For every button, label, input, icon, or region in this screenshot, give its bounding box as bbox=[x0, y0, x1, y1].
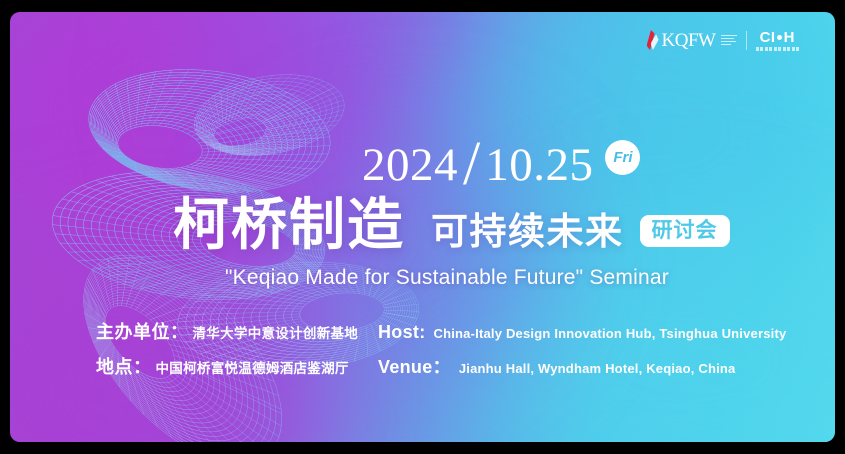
host-english: Host: China-Italy Design Innovation Hub,… bbox=[378, 322, 786, 343]
host-value-en: China-Italy Design Innovation Hub, Tsing… bbox=[434, 326, 787, 341]
venue-chinese: 地点： 中国柯桥富悦温德姆酒店鉴湖厅 bbox=[96, 353, 378, 379]
event-info-block: 主办单位： 清华大学中意设计创新基地 Host: China-Italy Des… bbox=[96, 318, 796, 388]
venue-value-en: Jianhu Hall, Wyndham Hotel, Keqiao, Chin… bbox=[459, 361, 736, 376]
event-date: 2024 / 10.25 Fri bbox=[362, 134, 640, 189]
logo-divider bbox=[746, 31, 747, 50]
gradient-blotch bbox=[190, 12, 510, 222]
headline-sub-title: 可持续未来 bbox=[431, 213, 624, 250]
cidh-logo: CI H bbox=[756, 30, 800, 51]
kqfw-subtext-icon bbox=[721, 35, 737, 46]
kqfw-mark-icon bbox=[646, 30, 659, 50]
date-month-day: 10.25 bbox=[485, 142, 593, 189]
logo-bar: KQFW CI H bbox=[646, 27, 799, 53]
cidh-chinese-subtext-icon bbox=[756, 47, 800, 51]
cidh-text-left: CI bbox=[760, 30, 776, 45]
headline-main-title: 柯桥制造 bbox=[173, 198, 405, 254]
host-label-en: Host: bbox=[378, 322, 426, 343]
venue-value-cn: 中国柯桥富悦温德姆酒店鉴湖厅 bbox=[156, 357, 349, 377]
info-row-venue: 地点： 中国柯桥富悦温德姆酒店鉴湖厅 Venue： Jianhu Hall, W… bbox=[96, 353, 796, 379]
info-row-host: 主办单位： 清华大学中意设计创新基地 Host: China-Italy Des… bbox=[96, 318, 796, 344]
kqfw-logo: KQFW bbox=[646, 30, 737, 50]
seminar-badge: 研讨会 bbox=[640, 215, 730, 247]
weekday-badge: Fri bbox=[605, 140, 640, 175]
cidh-text-right: H bbox=[784, 30, 795, 45]
cidh-dot-icon bbox=[777, 35, 782, 40]
host-value-cn: 清华大学中意设计创新基地 bbox=[193, 322, 359, 342]
venue-label-cn: 地点： bbox=[96, 353, 152, 379]
poster-canvas: KQFW CI H 2024 / 10.25 Fri 柯桥制造 可持续未来 bbox=[10, 12, 835, 442]
kqfw-wordmark: KQFW bbox=[662, 31, 716, 50]
date-year: 2024 bbox=[362, 142, 458, 189]
host-label-cn: 主办单位： bbox=[96, 318, 189, 344]
subtitle-english: "Keqiao Made for Sustainable Future" Sem… bbox=[225, 266, 669, 290]
venue-english: Venue： Jianhu Hall, Wyndham Hotel, Keqia… bbox=[378, 353, 736, 379]
date-separator: / bbox=[463, 138, 480, 191]
venue-label-en: Venue： bbox=[378, 353, 451, 379]
host-chinese: 主办单位： 清华大学中意设计创新基地 bbox=[96, 318, 378, 344]
cidh-wordmark: CI H bbox=[760, 30, 795, 45]
headline: 柯桥制造 可持续未来 研讨会 bbox=[173, 198, 730, 254]
